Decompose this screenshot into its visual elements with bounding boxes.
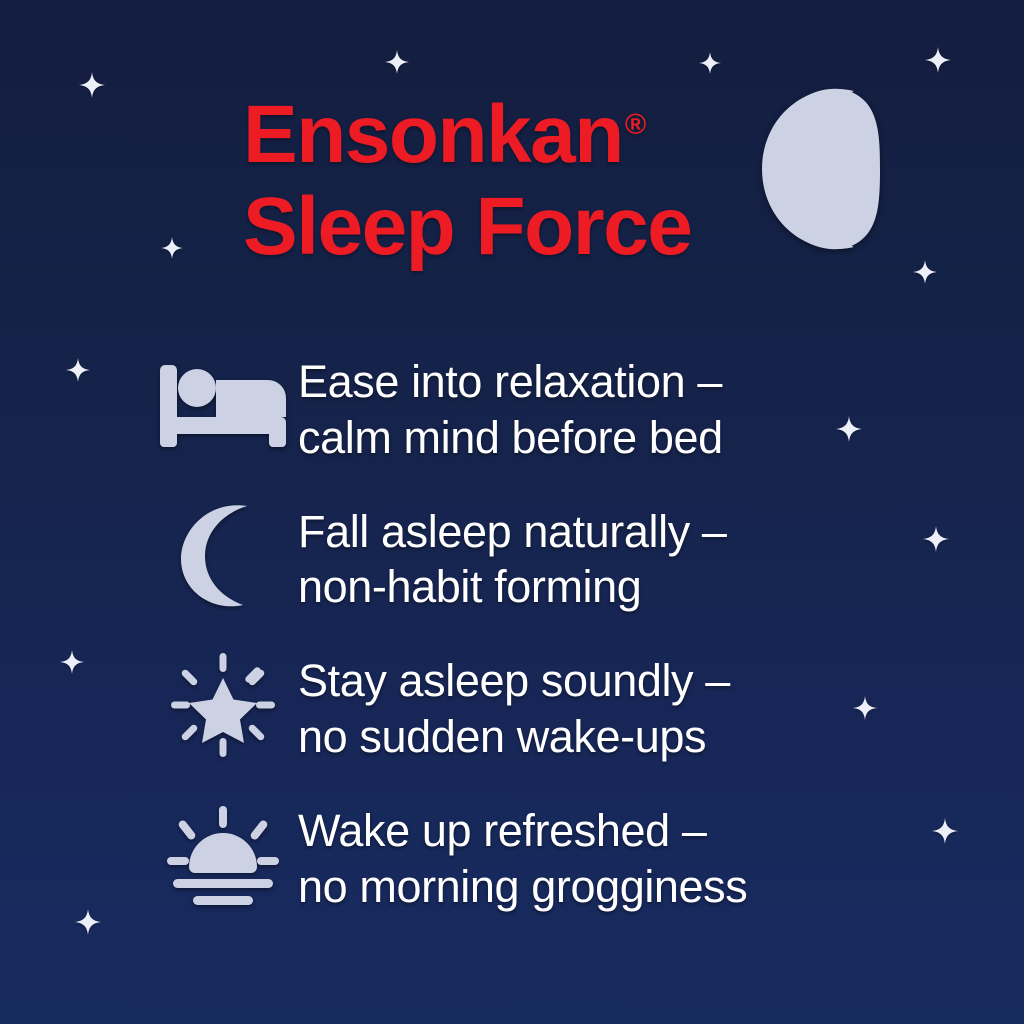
benefit-text: Stay asleep soundly – no sudden wake-ups xyxy=(298,651,868,765)
registered-trademark-icon: ® xyxy=(625,109,646,141)
star-icon xyxy=(699,52,721,74)
benefit-line-2: no morning grogginess xyxy=(298,859,868,915)
benefit-item: Fall asleep naturally – non-habit formin… xyxy=(148,502,868,616)
benefit-line-1: Wake up refreshed – xyxy=(298,805,706,856)
benefit-line-2: non-habit forming xyxy=(298,559,868,615)
star-icon xyxy=(932,818,958,844)
benefits-list: Ease into relaxation – calm mind before … xyxy=(148,352,868,914)
benefit-line-1: Fall asleep naturally – xyxy=(298,506,727,557)
star-icon xyxy=(60,650,84,674)
benefit-line-1: Ease into relaxation – xyxy=(298,356,722,407)
product-name: Sleep Force xyxy=(243,187,803,267)
benefit-item: Wake up refreshed – no morning groggines… xyxy=(148,801,868,915)
star-icon xyxy=(923,526,949,552)
moon-icon xyxy=(148,502,298,610)
benefit-text: Fall asleep naturally – non-habit formin… xyxy=(298,502,868,616)
star-icon xyxy=(75,909,101,935)
sunrise-icon xyxy=(148,801,298,909)
brand-title-block: Ensonkan® Sleep Force xyxy=(243,95,803,268)
benefit-text: Ease into relaxation – calm mind before … xyxy=(298,352,868,466)
benefit-line-1: Stay asleep soundly – xyxy=(298,655,730,706)
sleep-force-poster: Ensonkan® Sleep Force Ease into relaxati… xyxy=(0,0,1024,1024)
star-icon xyxy=(913,260,937,284)
star-icon xyxy=(925,47,951,73)
benefit-line-2: no sudden wake-ups xyxy=(298,709,868,765)
bed-icon xyxy=(148,352,298,460)
brand-name-line: Ensonkan® xyxy=(243,95,646,175)
benefit-text: Wake up refreshed – no morning groggines… xyxy=(298,801,868,915)
sparkle-star-icon xyxy=(148,651,298,759)
star-icon xyxy=(66,358,90,382)
brand-name: Ensonkan xyxy=(243,89,623,180)
star-icon xyxy=(161,237,183,259)
benefit-item: Ease into relaxation – calm mind before … xyxy=(148,352,868,466)
star-icon xyxy=(385,50,409,74)
star-icon xyxy=(79,72,105,98)
benefit-line-2: calm mind before bed xyxy=(298,410,868,466)
benefit-item: Stay asleep soundly – no sudden wake-ups xyxy=(148,651,868,765)
